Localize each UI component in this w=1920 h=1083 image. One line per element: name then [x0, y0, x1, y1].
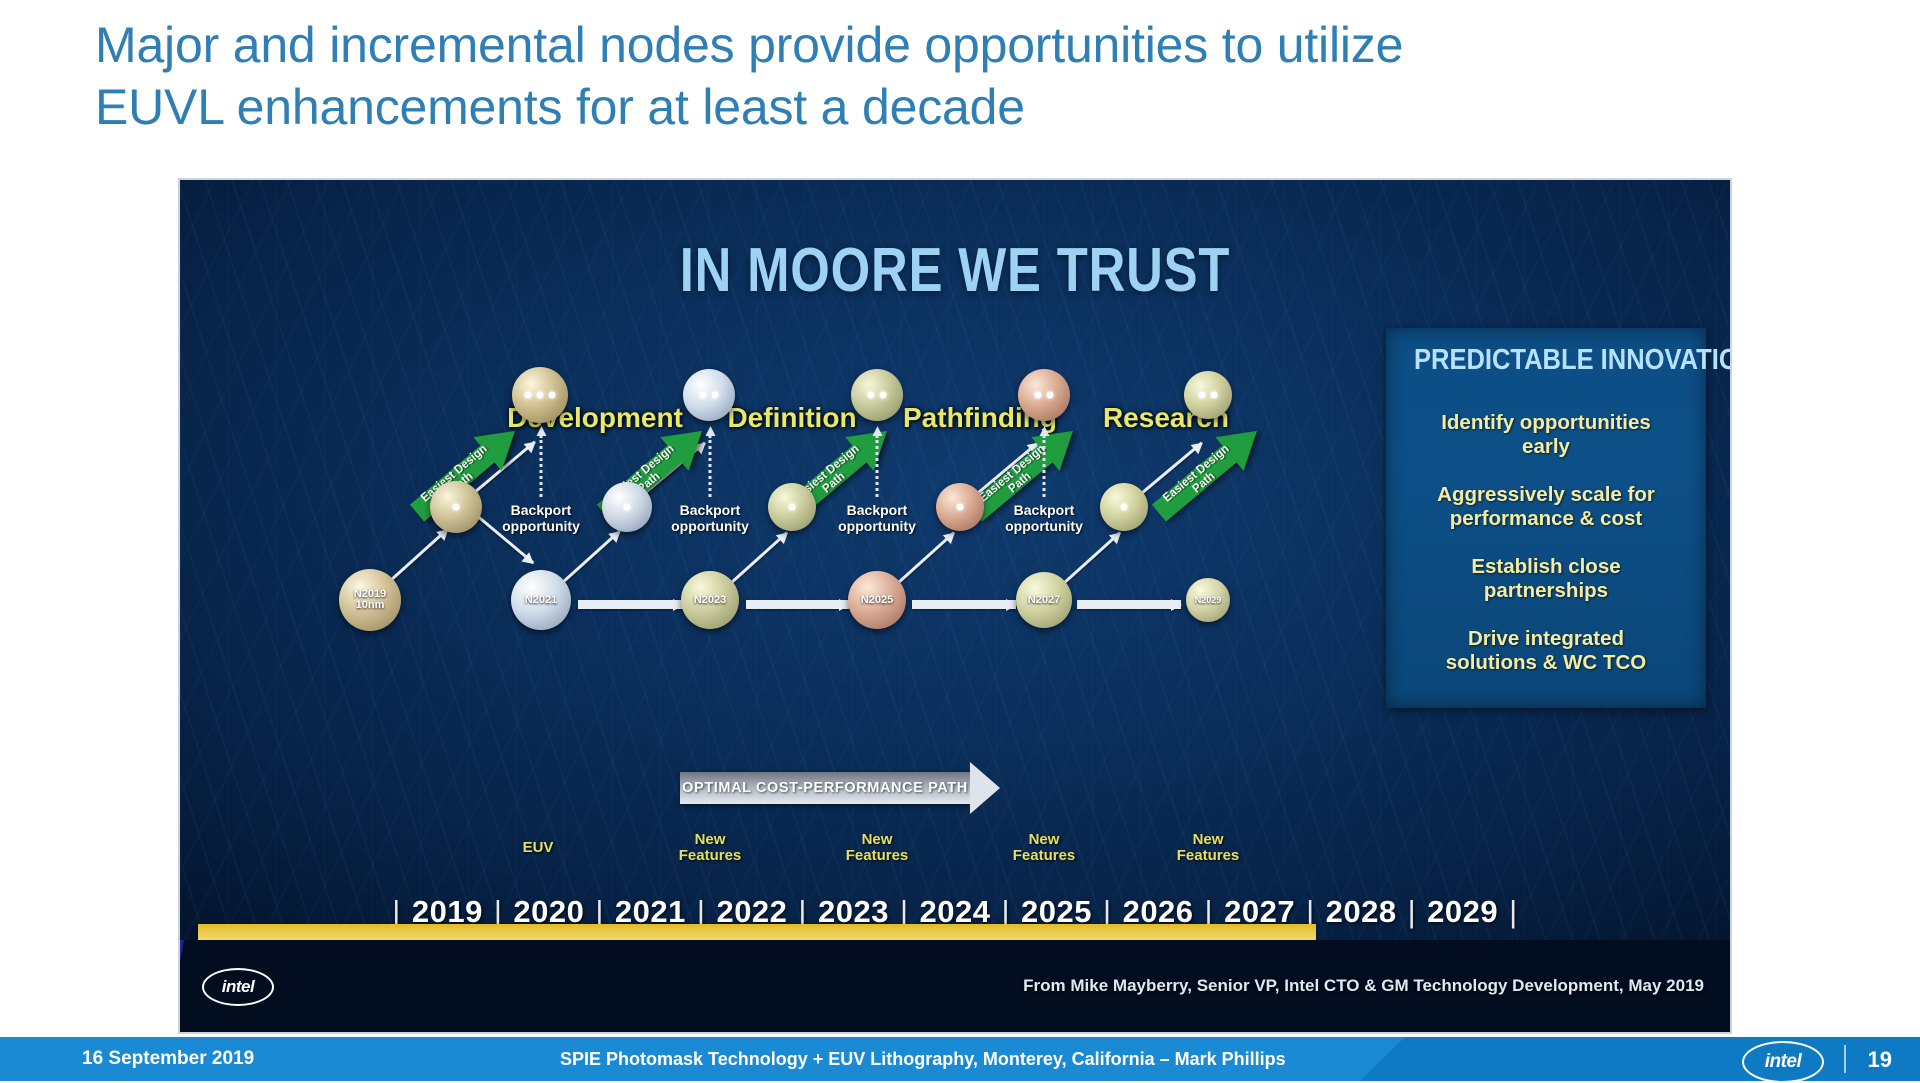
node-dots	[1199, 392, 1218, 399]
backport-label: Backport opportunity	[502, 502, 580, 534]
page-title: Major and incremental nodes provide oppo…	[95, 14, 1855, 138]
timeline-separator: |	[1408, 894, 1417, 930]
node-mid	[602, 482, 652, 532]
timeline-separator: |	[1509, 894, 1518, 930]
node-bottom-n2027: N2027	[1016, 572, 1072, 628]
footer-conference: SPIE Photomask Technology + EUV Lithogra…	[560, 1049, 1286, 1070]
node-bottom-n2023: N2023	[681, 571, 739, 629]
credit-text: From Mike Mayberry, Senior VP, Intel CTO…	[1023, 976, 1704, 996]
node-dots	[700, 392, 719, 399]
node-top	[851, 369, 903, 421]
node-mid	[430, 481, 482, 533]
node-label: N2023	[681, 571, 739, 629]
timeline-year: 2028	[1326, 894, 1397, 930]
intel-logo-icon: intel	[1742, 1041, 1824, 1083]
node-mid	[1100, 483, 1148, 531]
node-dots	[957, 504, 964, 511]
node-bottom-n2025: N2025	[848, 571, 906, 629]
panel-title: PREDICTABLE INNOVATION	[1414, 344, 1678, 377]
timeline-caption-new-features: New Features	[1013, 832, 1076, 864]
node-top	[512, 367, 568, 423]
node-bottom-n2019: N2019 10nm	[339, 569, 401, 631]
panel-bullet: Identify opportunities early	[1396, 411, 1696, 459]
backport-label: Backport opportunity	[838, 502, 916, 534]
node-bottom-n2029: N2029	[1186, 578, 1230, 622]
node-top	[1184, 371, 1232, 419]
footer-divider	[1844, 1045, 1846, 1073]
node-label: N2019 10nm	[339, 569, 401, 631]
node-mid	[768, 483, 816, 531]
node-label: N2029	[1186, 578, 1230, 622]
node-dots	[868, 392, 887, 399]
footer-date: 16 September 2019	[82, 1048, 254, 1070]
timeline-caption-new-features: New Features	[679, 832, 742, 864]
panel-bullet: Establish close partnerships	[1396, 555, 1696, 603]
backport-connector	[876, 435, 879, 497]
phase-label-definition: Definition	[727, 402, 856, 434]
node-bottom-n2021: N2021	[511, 570, 571, 630]
page-number: 19	[1868, 1047, 1892, 1073]
footer-swoosh	[1360, 1037, 1920, 1081]
node-dots	[1121, 504, 1128, 511]
timeline-caption-new-features: New Features	[846, 832, 909, 864]
moore-headline: IN MOORE WE TRUST	[320, 235, 1591, 306]
node-top	[1018, 369, 1070, 421]
node-dots	[453, 504, 460, 511]
backport-connector	[1043, 435, 1046, 497]
timeline-caption-new-features: New Features	[1177, 832, 1240, 864]
connector-bottom	[746, 600, 849, 609]
roadmap-image: IN MOORE WE TRUST Development Definition…	[178, 178, 1732, 1034]
optimal-path-label: OPTIMAL COST-PERFORMANCE PATH	[682, 780, 968, 796]
arrow-head-icon	[970, 762, 1000, 814]
connector-bottom	[912, 600, 1016, 609]
backport-connector	[540, 435, 543, 497]
node-dots	[624, 504, 631, 511]
connector-bottom	[578, 600, 683, 609]
predictable-innovation-panel: PREDICTABLE INNOVATION Identify opportun…	[1386, 328, 1706, 708]
timeline-caption-euv: EUV	[523, 840, 554, 856]
slide-footer: 16 September 2019 SPIE Photomask Technol…	[0, 1037, 1920, 1081]
timeline-year: 2029	[1427, 894, 1498, 930]
node-label: N2021	[511, 570, 571, 630]
panel-bullet-list: Identify opportunities early Aggressivel…	[1396, 411, 1696, 675]
node-dots	[525, 392, 556, 399]
backport-label: Backport opportunity	[1005, 502, 1083, 534]
backport-label: Backport opportunity	[671, 502, 749, 534]
backport-connector	[709, 435, 712, 497]
credit-strip: intel From Mike Mayberry, Senior VP, Int…	[180, 940, 1730, 1032]
panel-bullet: Drive integrated solutions & WC TCO	[1396, 627, 1696, 675]
panel-bullet: Aggressively scale for performance & cos…	[1396, 483, 1696, 531]
node-dots	[1035, 392, 1054, 399]
node-label: N2025	[848, 571, 906, 629]
optimal-cost-performance-banner: OPTIMAL COST-PERFORMANCE PATH	[680, 772, 970, 804]
node-label: N2027	[1016, 572, 1072, 628]
node-mid	[936, 483, 984, 531]
intel-logo-icon: intel	[202, 968, 274, 1006]
connector-bottom	[1077, 600, 1181, 609]
node-top	[683, 369, 735, 421]
node-dots	[789, 504, 796, 511]
